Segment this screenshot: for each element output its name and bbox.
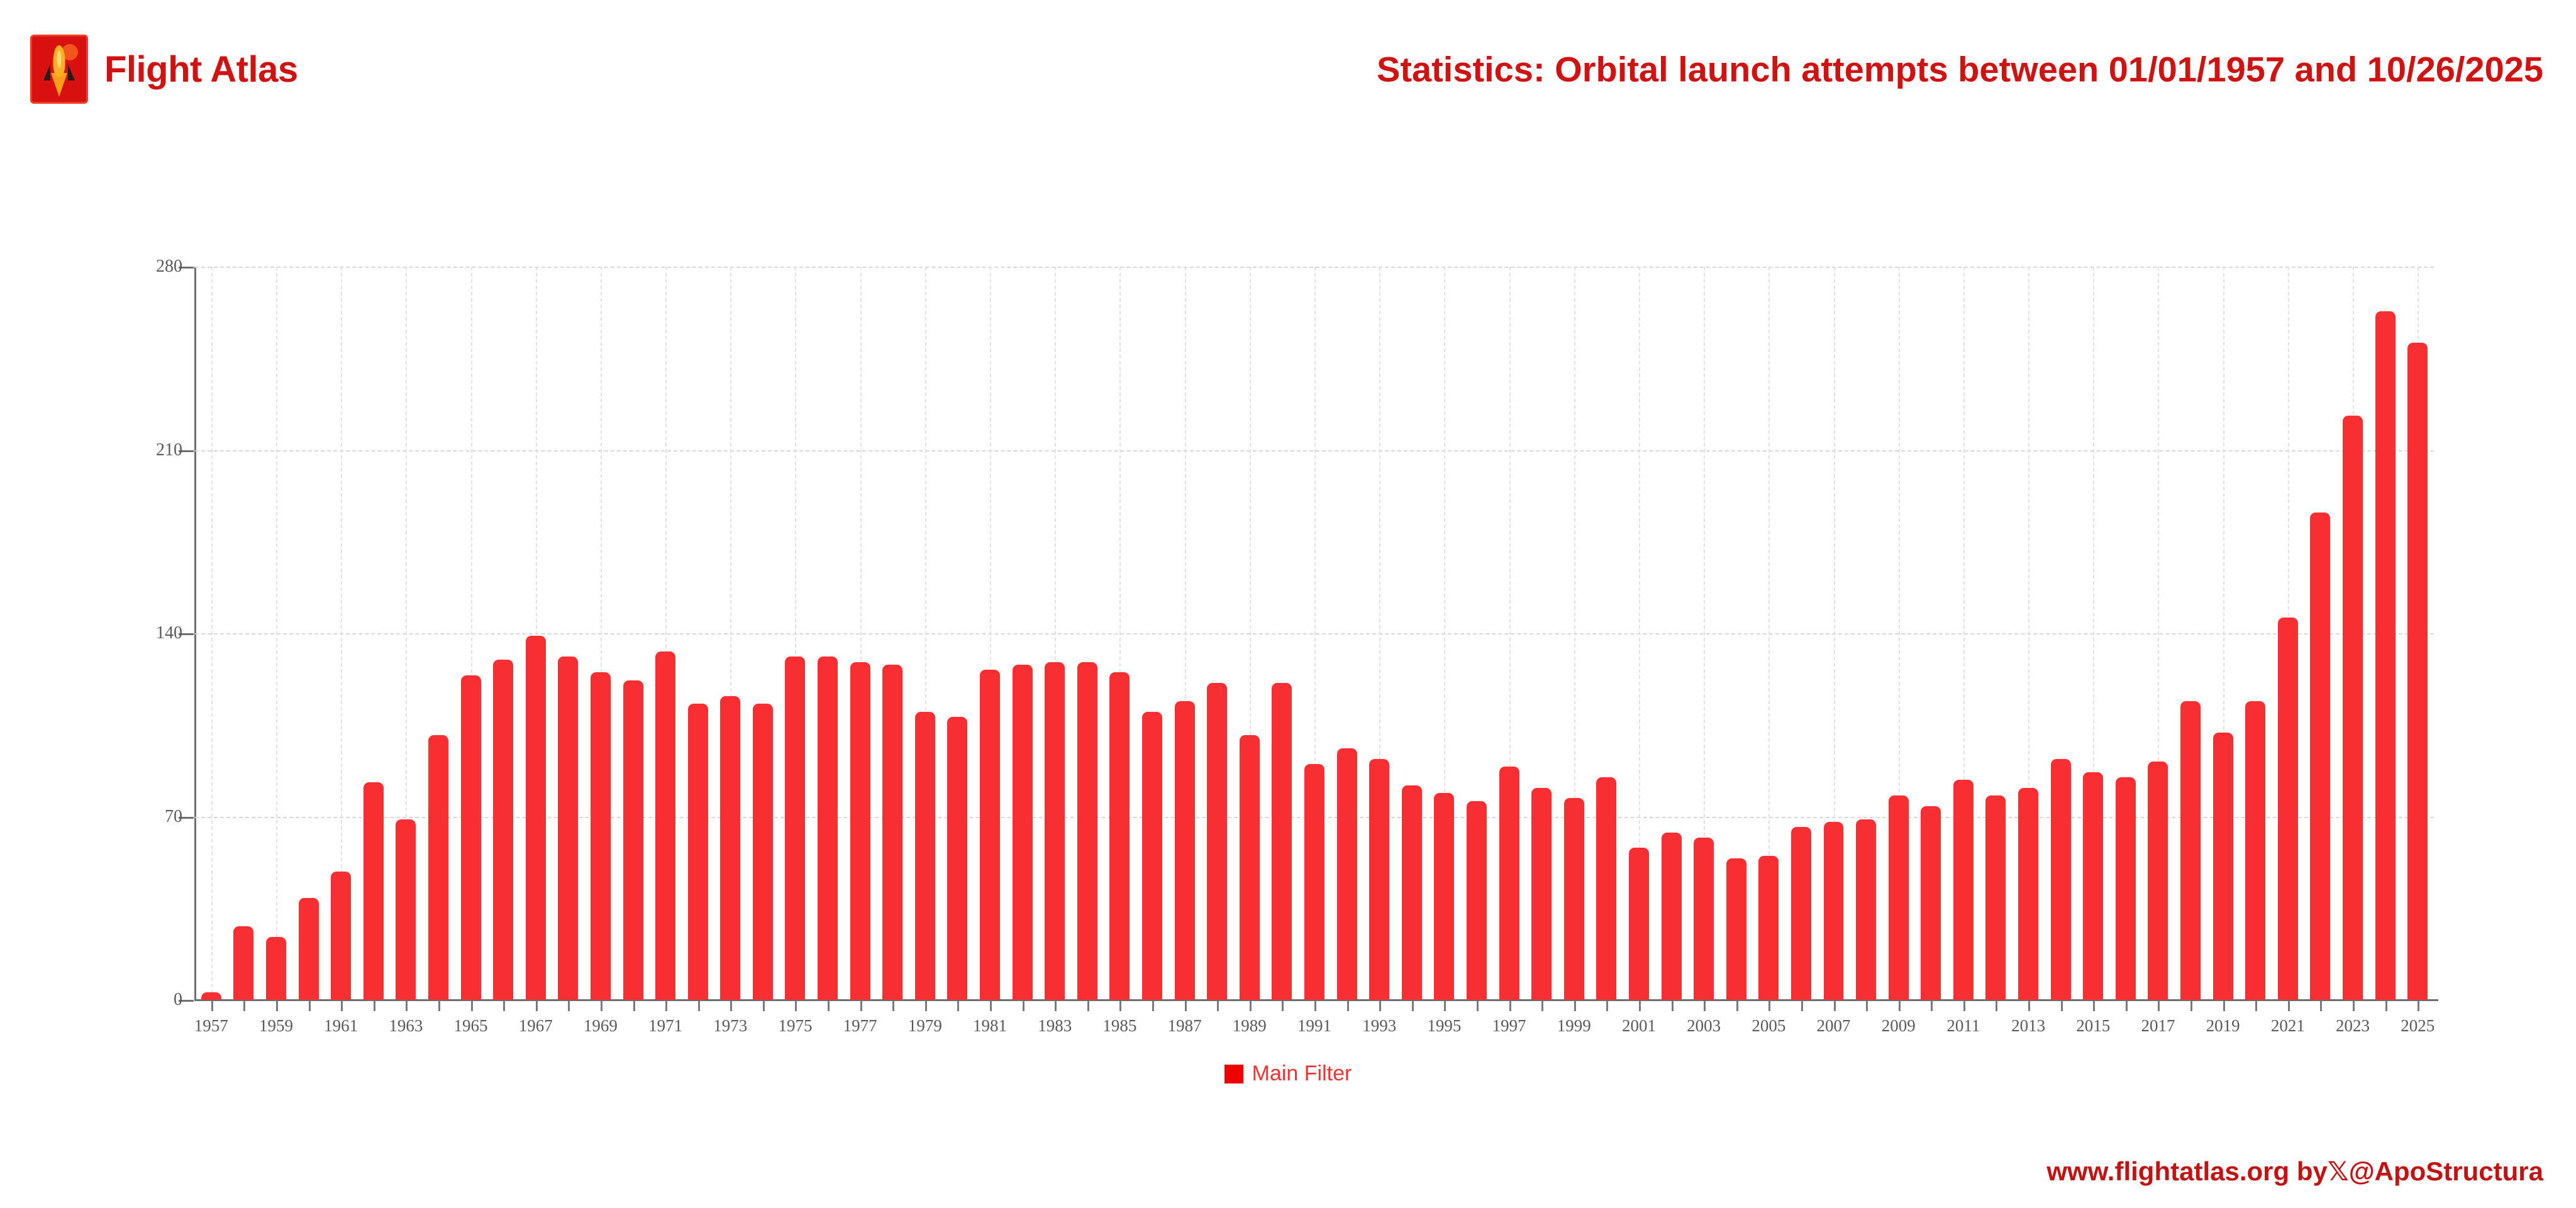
bar[interactable] xyxy=(818,657,838,1000)
bar[interactable] xyxy=(1272,683,1292,1000)
x-tick-mark xyxy=(892,1001,894,1011)
x-tick-label: 2007 xyxy=(1817,1016,1851,1036)
bar[interactable] xyxy=(1304,764,1324,1000)
x-tick-mark xyxy=(1606,1001,1608,1011)
bar-series-main-filter xyxy=(195,267,2434,1000)
x-tick-mark xyxy=(341,1001,343,1011)
x-tick-label: 1969 xyxy=(584,1016,618,1036)
bar[interactable] xyxy=(1889,795,1909,1000)
x-tick-label: 1971 xyxy=(648,1016,682,1036)
x-tick-mark xyxy=(1477,1001,1479,1011)
bar[interactable] xyxy=(1434,793,1454,1000)
bar[interactable] xyxy=(2310,513,2330,1000)
bar[interactable] xyxy=(1953,780,1974,1000)
bar[interactable] xyxy=(2407,343,2428,1000)
x-tick-label: 2021 xyxy=(2271,1016,2305,1036)
bar[interactable] xyxy=(1142,712,1162,1000)
bar[interactable] xyxy=(1726,858,1746,1000)
bar-chart: 070140210280 195719591961196319651967196… xyxy=(195,267,2434,1000)
x-tick-mark xyxy=(795,1001,797,1011)
x-tick-mark xyxy=(2255,1001,2257,1011)
bar[interactable] xyxy=(1499,767,1519,1000)
legend-item-label: Main Filter xyxy=(1252,1061,1352,1086)
x-tick-mark xyxy=(1899,1001,1901,1011)
bar[interactable] xyxy=(1791,827,1811,1000)
x-tick-label: 1959 xyxy=(259,1016,293,1036)
x-tick-mark xyxy=(2385,1001,2387,1011)
x-tick-mark xyxy=(1119,1001,1121,1011)
x-tick-label: 1985 xyxy=(1102,1016,1136,1036)
bar[interactable] xyxy=(947,717,967,1000)
bar[interactable] xyxy=(364,782,384,1000)
bar[interactable] xyxy=(1662,833,1682,1000)
x-tick-mark xyxy=(2126,1001,2128,1011)
bar[interactable] xyxy=(785,657,805,1000)
rocket-window xyxy=(57,50,62,68)
x-tick-mark xyxy=(730,1001,732,1011)
x-tick-mark xyxy=(925,1001,927,1011)
x-tick-mark xyxy=(957,1001,959,1011)
bar[interactable] xyxy=(915,712,935,1000)
bar[interactable] xyxy=(2018,788,2038,1000)
x-tick-mark xyxy=(503,1001,505,1011)
x-tick-mark xyxy=(990,1001,992,1011)
x-tick-mark xyxy=(2093,1001,2095,1011)
footer-site: www.flightatlas.org by xyxy=(2046,1156,2327,1187)
bar[interactable] xyxy=(1758,856,1779,1000)
x-tick-mark xyxy=(568,1001,570,1011)
x-tick-mark xyxy=(471,1001,473,1011)
bar[interactable] xyxy=(461,675,481,1000)
x-tick-mark xyxy=(1509,1001,1511,1011)
bar[interactable] xyxy=(623,680,643,1000)
bar[interactable] xyxy=(1207,683,1227,1000)
x-tick-mark xyxy=(1023,1001,1024,1011)
bar[interactable] xyxy=(1564,798,1584,1000)
bar[interactable] xyxy=(2213,733,2233,1000)
y-tick-label: 0 xyxy=(174,990,182,1010)
x-tick-label: 1975 xyxy=(778,1016,812,1036)
bar[interactable] xyxy=(2278,618,2298,1000)
x-tick-label: 2005 xyxy=(1752,1016,1785,1036)
chart-legend: Main Filter xyxy=(0,1061,2576,1086)
x-tick-label: 1981 xyxy=(973,1016,1007,1036)
bar[interactable] xyxy=(980,670,1000,1000)
x-tick-label: 2009 xyxy=(1882,1016,1916,1036)
x-tick-mark xyxy=(1087,1001,1089,1011)
x-tick-mark xyxy=(2061,1001,2063,1011)
bar[interactable] xyxy=(655,651,675,1000)
bar[interactable] xyxy=(526,636,546,1000)
bar[interactable] xyxy=(1077,662,1097,1000)
x-tick-mark xyxy=(1347,1001,1349,1011)
x-tick-label: 1999 xyxy=(1557,1016,1591,1036)
bar[interactable] xyxy=(331,872,351,1000)
bar[interactable] xyxy=(2148,762,2168,1000)
x-tick-label: 2019 xyxy=(2206,1016,2240,1036)
rocket-fin-left xyxy=(43,64,50,80)
bar[interactable] xyxy=(720,696,740,1000)
x-tick-mark xyxy=(309,1001,311,1011)
x-tick-label: 1991 xyxy=(1297,1016,1331,1036)
brand-name: Flight Atlas xyxy=(104,48,298,91)
x-tick-mark xyxy=(1379,1001,1381,1011)
x-tick-label: 1989 xyxy=(1233,1016,1267,1036)
bar[interactable] xyxy=(1175,701,1195,1000)
x-tick-mark xyxy=(1834,1001,1836,1011)
bar[interactable] xyxy=(1856,819,1876,1000)
bar[interactable] xyxy=(1045,662,1065,1000)
bar[interactable] xyxy=(1337,748,1357,1000)
page-header: Flight Atlas Statistics: Orbital launch … xyxy=(0,0,2576,119)
x-tick-label: 1993 xyxy=(1362,1016,1396,1036)
bar[interactable] xyxy=(882,665,902,1000)
x-tick-mark xyxy=(2418,1001,2419,1011)
x-tick-mark xyxy=(1963,1001,1965,1011)
x-tick-mark xyxy=(1736,1001,1738,1011)
bar[interactable] xyxy=(2083,772,2103,1000)
plot-region: 070140210280 195719591961196319651967196… xyxy=(195,267,2434,1000)
x-tick-mark xyxy=(763,1001,765,1011)
bar[interactable] xyxy=(1531,788,1552,1000)
x-tick-mark xyxy=(1704,1001,1706,1011)
legend-swatch-icon xyxy=(1224,1065,1243,1083)
bar[interactable] xyxy=(1013,665,1033,1000)
bar[interactable] xyxy=(850,662,870,1000)
bar[interactable] xyxy=(591,672,611,1000)
y-tick-label: 210 xyxy=(156,440,182,460)
x-tick-mark xyxy=(1055,1001,1057,1011)
bar[interactable] xyxy=(558,657,578,1000)
bar[interactable] xyxy=(1629,848,1649,1000)
bar[interactable] xyxy=(1921,806,1941,1000)
x-tick-label: 2011 xyxy=(1946,1016,1980,1036)
x-tick-mark xyxy=(2320,1001,2322,1011)
x-tick-label: 2017 xyxy=(2141,1016,2175,1036)
page-title: Statistics: Orbital launch attempts betw… xyxy=(1377,49,2543,90)
rocket-fin-right xyxy=(68,64,75,80)
bar[interactable] xyxy=(2375,311,2396,1000)
bar[interactable] xyxy=(493,660,513,1000)
x-tick-mark xyxy=(1412,1001,1414,1011)
x-tick-mark xyxy=(374,1001,375,1011)
x-tick-label: 2015 xyxy=(2076,1016,2110,1036)
bar[interactable] xyxy=(299,898,319,1000)
x-tick-mark xyxy=(536,1001,538,1011)
footer-credit: www.flightatlas.org by 𝕏 @ApoStructura xyxy=(2046,1156,2543,1187)
x-tick-label: 1963 xyxy=(389,1016,423,1036)
bar[interactable] xyxy=(2180,701,2201,1000)
x-tick-mark xyxy=(1314,1001,1316,1011)
bar[interactable] xyxy=(688,704,708,1000)
y-tick-label: 280 xyxy=(156,257,182,277)
x-logo-icon: 𝕏 xyxy=(2328,1156,2349,1187)
x-tick-mark xyxy=(2190,1001,2192,1011)
rocket-icon xyxy=(30,35,88,104)
x-tick-label: 2025 xyxy=(2401,1016,2434,1036)
x-tick-mark xyxy=(1801,1001,1803,1011)
x-tick-mark xyxy=(438,1001,440,1011)
x-tick-mark xyxy=(633,1001,635,1011)
x-tick-label: 2001 xyxy=(1622,1016,1656,1036)
bar[interactable] xyxy=(1467,801,1487,1000)
x-tick-label: 1957 xyxy=(194,1016,228,1036)
x-tick-label: 1997 xyxy=(1492,1016,1526,1036)
bar[interactable] xyxy=(2343,416,2363,1000)
y-tick-label: 70 xyxy=(165,807,182,827)
x-tick-mark xyxy=(2223,1001,2225,1011)
x-tick-mark xyxy=(698,1001,700,1011)
bar[interactable] xyxy=(1596,777,1616,1000)
x-tick-mark xyxy=(2288,1001,2290,1011)
x-tick-label: 2013 xyxy=(2011,1016,2045,1036)
x-tick-mark xyxy=(1866,1001,1868,1011)
x-tick-mark xyxy=(1996,1001,1997,1011)
x-tick-mark xyxy=(1217,1001,1219,1011)
x-tick-mark xyxy=(665,1001,667,1011)
bar[interactable] xyxy=(2245,701,2265,1000)
x-tick-mark xyxy=(211,1001,213,1011)
x-tick-mark xyxy=(601,1001,602,1011)
legend-item-main-filter[interactable]: Main Filter xyxy=(1224,1061,1352,1086)
x-tick-mark xyxy=(860,1001,862,1011)
x-tick-mark xyxy=(1768,1001,1770,1011)
bar[interactable] xyxy=(201,992,221,1000)
x-tick-label: 2023 xyxy=(2336,1016,2370,1036)
bar[interactable] xyxy=(1694,838,1714,1000)
x-tick-label: 1995 xyxy=(1427,1016,1461,1036)
x-tick-mark xyxy=(1185,1001,1187,1011)
x-tick-mark xyxy=(1444,1001,1446,1011)
x-tick-mark xyxy=(243,1001,245,1011)
bar[interactable] xyxy=(1985,795,2006,1000)
x-tick-label: 1987 xyxy=(1168,1016,1202,1036)
x-tick-label: 1983 xyxy=(1038,1016,1072,1036)
x-tick-mark xyxy=(406,1001,408,1011)
x-tick-mark xyxy=(2353,1001,2355,1011)
bar[interactable] xyxy=(1240,735,1260,1000)
bar[interactable] xyxy=(233,926,253,1000)
bar[interactable] xyxy=(396,819,416,1000)
x-tick-label: 1961 xyxy=(324,1016,358,1036)
bar[interactable] xyxy=(753,704,773,1000)
x-tick-mark xyxy=(1282,1001,1284,1011)
bar[interactable] xyxy=(1369,759,1389,1000)
x-tick-mark xyxy=(1250,1001,1252,1011)
bar[interactable] xyxy=(1824,822,1844,1000)
x-tick-label: 2003 xyxy=(1687,1016,1721,1036)
y-tick-label: 140 xyxy=(156,623,182,643)
x-tick-label: 1979 xyxy=(908,1016,942,1036)
x-tick-mark xyxy=(2028,1001,2030,1011)
x-tick-mark xyxy=(276,1001,278,1011)
x-tick-mark xyxy=(2158,1001,2160,1011)
x-tick-mark xyxy=(1152,1001,1154,1011)
bar[interactable] xyxy=(2051,759,2071,1000)
x-tick-label: 1965 xyxy=(454,1016,488,1036)
bar[interactable] xyxy=(266,937,286,1000)
x-tick-mark xyxy=(1541,1001,1543,1011)
bar[interactable] xyxy=(428,735,448,1000)
x-tick-label: 1973 xyxy=(713,1016,747,1036)
x-tick-label: 1967 xyxy=(519,1016,553,1036)
x-tick-mark xyxy=(1931,1001,1933,1011)
bar[interactable] xyxy=(2116,777,2136,1000)
bar[interactable] xyxy=(1402,785,1422,1000)
x-tick-mark xyxy=(1639,1001,1641,1011)
x-tick-mark xyxy=(1672,1001,1674,1011)
x-tick-mark xyxy=(828,1001,830,1011)
brand: Flight Atlas xyxy=(30,35,298,104)
x-tick-label: 1977 xyxy=(843,1016,877,1036)
bar[interactable] xyxy=(1109,672,1130,1000)
x-tick-mark xyxy=(1574,1001,1576,1011)
footer-handle: @ApoStructura xyxy=(2349,1156,2543,1187)
